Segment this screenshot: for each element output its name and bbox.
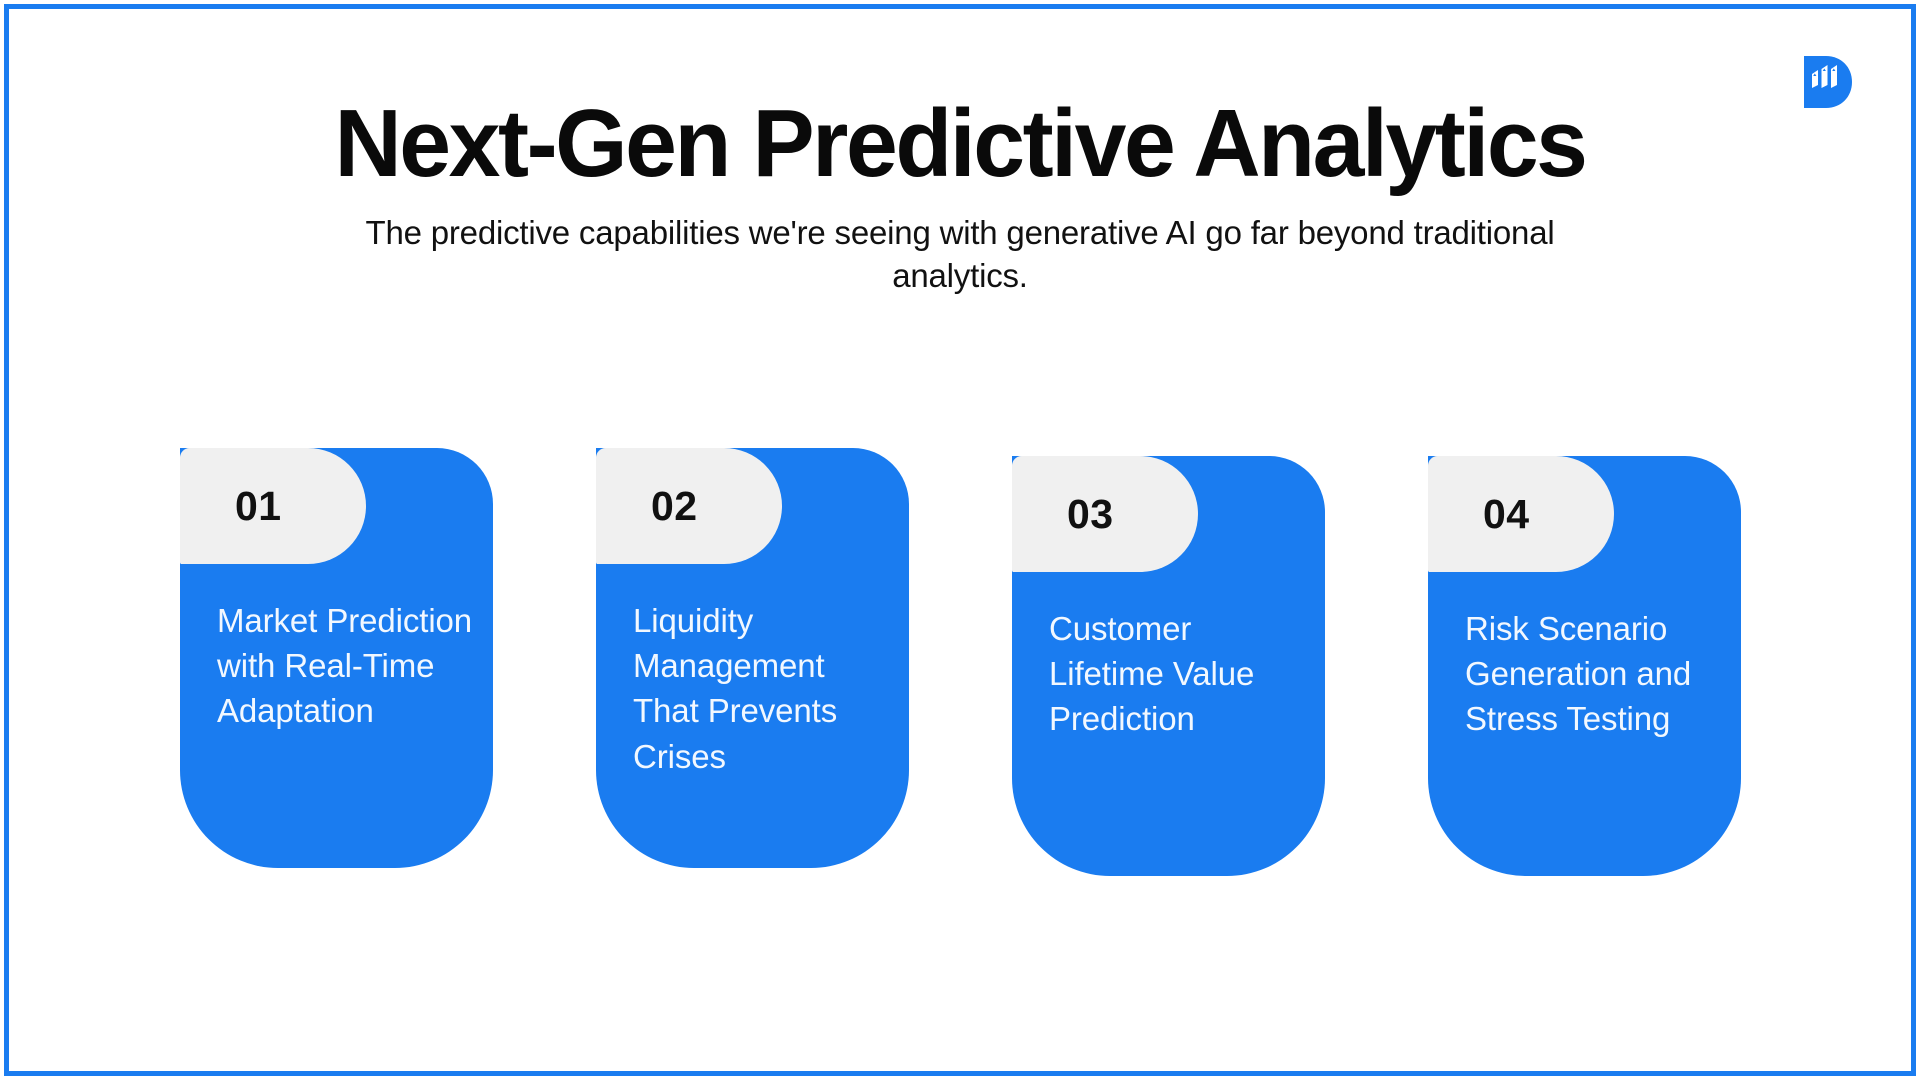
page-subtitle: The predictive capabilities we're seeing… — [295, 192, 1625, 298]
card-text-label: Liquidity Management That Prevents Crise… — [633, 598, 895, 779]
card-text-label: Market Prediction with Real-Time Adaptat… — [217, 598, 479, 734]
cards-row: 01 Market Prediction with Real-Time Adap… — [180, 448, 1748, 876]
card-number-label: 01 — [180, 486, 282, 527]
card-number-badge: 02 — [596, 448, 782, 564]
card-number-badge: 01 — [180, 448, 366, 564]
feature-card-1[interactable]: 01 Market Prediction with Real-Time Adap… — [180, 448, 493, 876]
card-body: 04 Risk Scenario Generation and Stress T… — [1428, 456, 1741, 876]
card-text-label: Customer Lifetime Value Prediction — [1049, 606, 1311, 742]
page-title: Next-Gen Predictive Analytics — [29, 0, 1891, 192]
header: Next-Gen Predictive Analytics The predic… — [0, 0, 1920, 298]
card-body: 01 Market Prediction with Real-Time Adap… — [180, 448, 493, 868]
card-text-label: Risk Scenario Generation and Stress Test… — [1465, 606, 1727, 742]
card-number-label: 02 — [596, 486, 698, 527]
card-number-badge: 03 — [1012, 456, 1198, 572]
slide-canvas: Next-Gen Predictive Analytics The predic… — [0, 0, 1920, 1080]
card-body: 02 Liquidity Management That Prevents Cr… — [596, 448, 909, 868]
feature-card-4[interactable]: 04 Risk Scenario Generation and Stress T… — [1428, 456, 1741, 876]
card-number-label: 04 — [1428, 494, 1530, 535]
feature-card-2[interactable]: 02 Liquidity Management That Prevents Cr… — [596, 448, 909, 876]
card-body: 03 Customer Lifetime Value Prediction — [1012, 456, 1325, 876]
feature-card-3[interactable]: 03 Customer Lifetime Value Prediction — [1012, 456, 1325, 876]
card-number-label: 03 — [1012, 494, 1114, 535]
card-number-badge: 04 — [1428, 456, 1614, 572]
